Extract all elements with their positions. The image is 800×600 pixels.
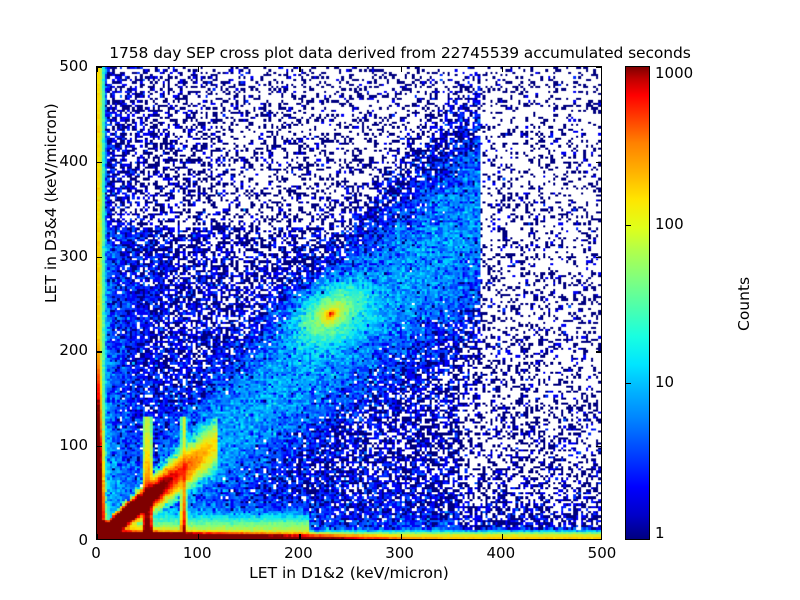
plot-axes[interactable] (96, 66, 602, 540)
x-tick-100 (198, 534, 199, 539)
colorbar-tick-label-1: 1 (655, 524, 665, 542)
title-line-1: 1758 day SEP cross plot data derived fro… (0, 44, 800, 63)
x-tick-0 (97, 534, 98, 539)
figure-canvas: 1758 day SEP cross plot data derived fro… (0, 0, 800, 600)
y-tick-label-100: 100 (59, 436, 88, 454)
colorbar-tick-100 (626, 225, 631, 226)
y-tick-label-200: 200 (59, 341, 88, 359)
y-tick-right-100 (596, 446, 601, 447)
x-tick-top-200 (299, 67, 300, 72)
colorbar-tick-label-1000: 1000 (655, 64, 693, 82)
x-tick-300 (401, 534, 402, 539)
y-tick-right-200 (596, 351, 601, 352)
x-tick-label-400: 400 (486, 544, 515, 562)
x-tick-top-100 (198, 67, 199, 72)
x-tick-label-500: 500 (588, 544, 617, 562)
x-axis-label: LET in D1&2 (keV/micron) (96, 564, 602, 582)
x-tick-top-400 (502, 67, 503, 72)
x-tick-label-0: 0 (91, 544, 101, 562)
y-tick-right-500 (596, 67, 601, 68)
y-tick-label-500: 500 (59, 57, 88, 75)
x-tick-label-100: 100 (183, 544, 212, 562)
y-tick-100 (97, 446, 102, 447)
colorbar-tick-label-10: 10 (655, 373, 674, 391)
x-tick-400 (502, 534, 503, 539)
x-tick-top-300 (401, 67, 402, 72)
x-tick-label-200: 200 (284, 544, 313, 562)
y-tick-200 (97, 351, 102, 352)
colorbar-tick-10 (626, 383, 631, 384)
y-tick-500 (97, 67, 102, 68)
colorbar-label: Counts (735, 277, 753, 331)
y-axis-label: LET in D3&4 (keV/micron) (42, 103, 60, 303)
y-tick-right-300 (596, 257, 601, 258)
y-tick-label-0: 0 (78, 531, 88, 549)
x-tick-200 (299, 534, 300, 539)
y-tick-300 (97, 257, 102, 258)
y-tick-label-400: 400 (59, 152, 88, 170)
y-tick-label-300: 300 (59, 247, 88, 265)
colorbar-tick-label-100: 100 (655, 215, 684, 233)
y-tick-right-400 (596, 162, 601, 163)
x-tick-label-300: 300 (385, 544, 414, 562)
y-tick-400 (97, 162, 102, 163)
colorbar[interactable] (625, 66, 650, 540)
scatter-density-plot (97, 67, 601, 539)
